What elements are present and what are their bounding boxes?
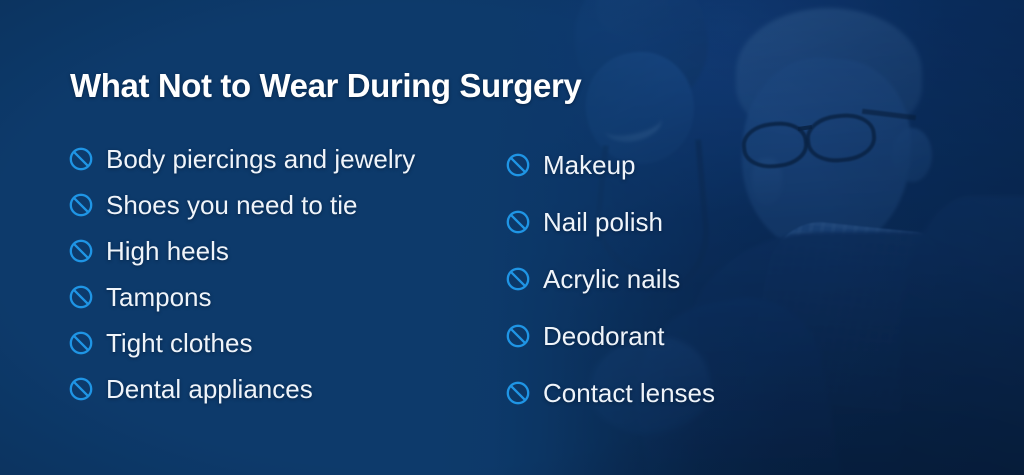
content-area: What Not to Wear During Surgery Body pie… [0, 0, 1024, 475]
list-item: Deodorant [505, 307, 715, 364]
list-item-label: High heels [106, 236, 229, 266]
prohibition-icon [505, 209, 531, 235]
prohibition-icon [68, 146, 94, 172]
list-item-label: Contact lenses [543, 378, 715, 408]
infographic-banner: What Not to Wear During Surgery Body pie… [0, 0, 1024, 475]
list-item-label: Shoes you need to tie [106, 190, 358, 220]
page-title: What Not to Wear During Surgery [70, 66, 581, 106]
list-item: Makeup [505, 136, 715, 193]
list-item-label: Makeup [543, 150, 636, 180]
list-item: Contact lenses [505, 364, 715, 421]
list-item-label: Body piercings and jewelry [106, 144, 415, 174]
prohibition-icon [505, 266, 531, 292]
list-item: Acrylic nails [505, 250, 715, 307]
prohibition-icon [505, 323, 531, 349]
list-item-label: Nail polish [543, 207, 663, 237]
prohibition-icon [68, 330, 94, 356]
list-item-label: Deodorant [543, 321, 664, 351]
list-item: Shoes you need to tie [68, 182, 415, 228]
list-item: Dental appliances [68, 366, 415, 412]
list-item-label: Tampons [106, 282, 212, 312]
list-item: Nail polish [505, 193, 715, 250]
list-item: Tampons [68, 274, 415, 320]
prohibition-icon [68, 238, 94, 264]
list-item: Body piercings and jewelry [68, 136, 415, 182]
list-item: High heels [68, 228, 415, 274]
list-item-label: Acrylic nails [543, 264, 680, 294]
prohibition-icon [68, 284, 94, 310]
prohibition-icon [68, 376, 94, 402]
list-item-label: Tight clothes [106, 328, 252, 358]
prohibition-icon [505, 380, 531, 406]
list-item: Tight clothes [68, 320, 415, 366]
list-column-left: Body piercings and jewelry Shoes you nee… [68, 136, 415, 412]
list-column-right: Makeup Nail polish Acr [505, 136, 715, 421]
prohibition-icon [68, 192, 94, 218]
list-item-label: Dental appliances [106, 374, 313, 404]
prohibition-icon [505, 152, 531, 178]
